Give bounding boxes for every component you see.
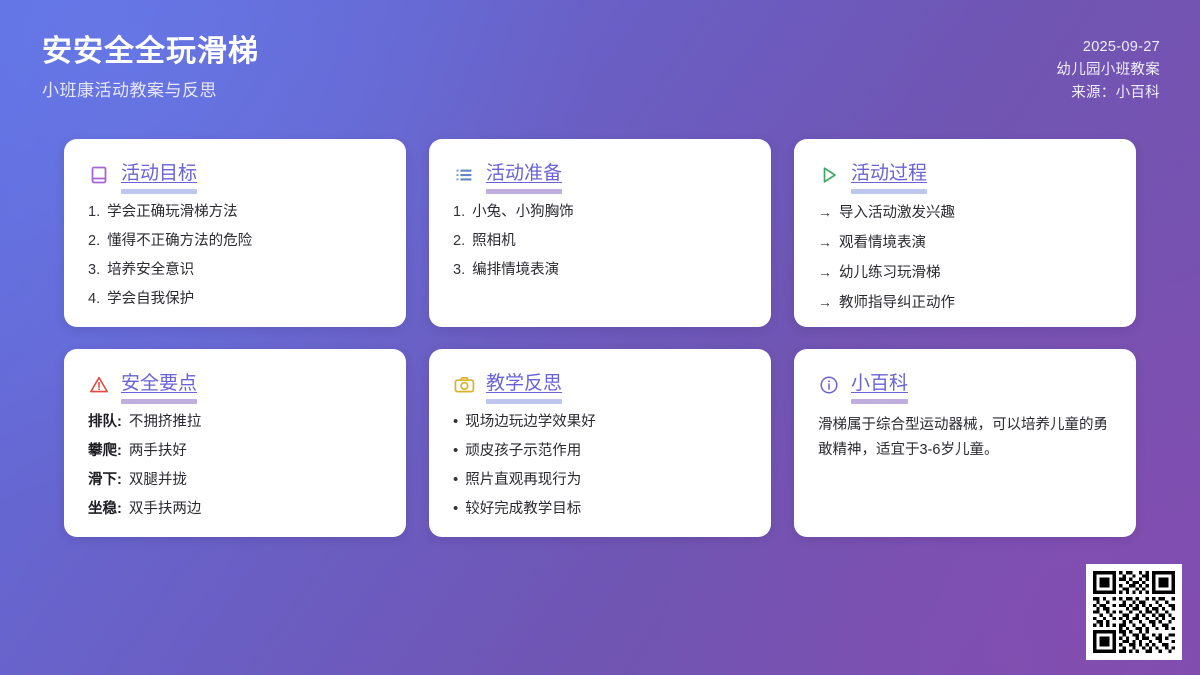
list-marker: 1. (453, 203, 465, 221)
card-safety-points[interactable]: 安全要点 排队: 不拥挤推拉 攀爬: 两手扶好 滑下: 双腿并拢 坐稳: 双手扶… (64, 349, 406, 537)
list-marker: 3. (88, 261, 100, 279)
list-item: 滑下: 双腿并拢 (88, 471, 382, 489)
qr-code-container[interactable] (1086, 564, 1182, 660)
qr-code[interactable] (1093, 571, 1175, 653)
card-activity-process[interactable]: 活动过程 → 导入活动激发兴趣 → 观看情境表演 → 幼儿练习玩滑梯 → 教师指… (794, 139, 1136, 327)
card-header: 活动过程 (818, 161, 1112, 189)
list-item: 3. 培养安全意识 (88, 261, 382, 279)
card-header: 教学反思 (453, 371, 747, 399)
list-marker: 2. (88, 232, 100, 250)
item-label: 坐稳: (88, 500, 122, 518)
card-activity-goals[interactable]: 活动目标 1. 学会正确玩滑梯方法 2. 懂得不正确方法的危险 3. 培养安全意… (64, 139, 406, 327)
card-grid: 活动目标 1. 学会正确玩滑梯方法 2. 懂得不正确方法的危险 3. 培养安全意… (64, 139, 1136, 537)
card-body: 1. 学会正确玩滑梯方法 2. 懂得不正确方法的危险 3. 培养安全意识 4. … (88, 203, 382, 308)
list-item: 3. 编排情境表演 (453, 261, 747, 279)
list-item: 攀爬: 两手扶好 (88, 442, 382, 460)
book-icon (88, 164, 110, 186)
arrow-marker: → (818, 203, 832, 221)
bullet-marker: • (453, 413, 458, 431)
card-teaching-reflection[interactable]: 教学反思 • 现场边玩边学效果好 • 顽皮孩子示范作用 • 照片直观再现行为 •… (429, 349, 771, 537)
list-item: 2. 懂得不正确方法的危险 (88, 232, 382, 250)
list-marker: 3. (453, 261, 465, 279)
item-value: 双手扶两边 (129, 500, 202, 518)
page-subtitle: 小班康活动教案与反思 (42, 79, 259, 103)
list-item: 1. 小兔、小狗胸饰 (453, 203, 747, 221)
slide-root: 安安全全玩滑梯 小班康活动教案与反思 2025-09-27 幼儿园小班教案 来源… (0, 0, 1200, 675)
list-text: 培养安全意识 (107, 261, 194, 279)
item-value: 两手扶好 (129, 442, 187, 460)
item-label: 排队: (88, 413, 122, 431)
list-text: 顽皮孩子示范作用 (465, 442, 581, 460)
list-marker: 2. (453, 232, 465, 250)
list-text: 幼儿练习玩滑梯 (839, 264, 941, 282)
list-item: 1. 学会正确玩滑梯方法 (88, 203, 382, 221)
item-value: 不拥挤推拉 (129, 413, 202, 431)
play-triangle-icon (818, 164, 840, 186)
info-circle-icon (818, 374, 840, 396)
list-item: 排队: 不拥挤推拉 (88, 413, 382, 431)
list-item: → 导入活动激发兴趣 (818, 203, 1112, 222)
list-item: • 现场边玩边学效果好 (453, 413, 747, 431)
card-title: 安全要点 (121, 371, 197, 399)
card-body: → 导入活动激发兴趣 → 观看情境表演 → 幼儿练习玩滑梯 → 教师指导纠正动作 (818, 203, 1112, 312)
list-text: 现场边玩边学效果好 (465, 413, 596, 431)
list-text: 学会正确玩滑梯方法 (107, 203, 238, 221)
list-text: 观看情境表演 (839, 234, 926, 252)
meta-source: 来源：小百科 (1056, 82, 1160, 105)
item-label: 攀爬: (88, 442, 122, 460)
list-text: 学会自我保护 (107, 290, 194, 308)
list-item: 2. 照相机 (453, 232, 747, 250)
list-text: 较好完成教学目标 (465, 500, 581, 518)
bullet-marker: • (453, 500, 458, 518)
camera-icon (453, 374, 475, 396)
card-body: 滑梯属于综合型运动器械，可以培养儿童的勇敢精神，适宜于3-6岁儿童。 (818, 413, 1112, 463)
card-header: 小百科 (818, 371, 1112, 399)
card-header: 安全要点 (88, 371, 382, 399)
list-text: 小兔、小狗胸饰 (472, 203, 574, 221)
page-title: 安安全全玩滑梯 (42, 32, 259, 72)
list-icon (453, 164, 475, 186)
list-item: → 教师指导纠正动作 (818, 293, 1112, 312)
card-header: 活动准备 (453, 161, 747, 189)
card-title: 活动准备 (486, 161, 562, 189)
list-item: → 观看情境表演 (818, 233, 1112, 252)
card-title: 活动目标 (121, 161, 197, 189)
list-text: 教师指导纠正动作 (839, 294, 955, 312)
list-text: 照相机 (472, 232, 516, 250)
list-item: • 照片直观再现行为 (453, 471, 747, 489)
list-item: 4. 学会自我保护 (88, 290, 382, 308)
list-text: 导入活动激发兴趣 (839, 204, 955, 222)
card-body: 1. 小兔、小狗胸饰 2. 照相机 3. 编排情境表演 (453, 203, 747, 279)
arrow-marker: → (818, 263, 832, 281)
card-body: 排队: 不拥挤推拉 攀爬: 两手扶好 滑下: 双腿并拢 坐稳: 双手扶两边 (88, 413, 382, 518)
meta-date: 2025-09-27 (1056, 36, 1160, 59)
list-marker: 4. (88, 290, 100, 308)
card-body: • 现场边玩边学效果好 • 顽皮孩子示范作用 • 照片直观再现行为 • 较好完成… (453, 413, 747, 518)
list-item: → 幼儿练习玩滑梯 (818, 263, 1112, 282)
card-header: 活动目标 (88, 161, 382, 189)
warning-triangle-icon (88, 374, 110, 396)
card-activity-preparation[interactable]: 活动准备 1. 小兔、小狗胸饰 2. 照相机 3. 编排情境表演 (429, 139, 771, 327)
card-encyclopedia[interactable]: 小百科 滑梯属于综合型运动器械，可以培养儿童的勇敢精神，适宜于3-6岁儿童。 (794, 349, 1136, 537)
arrow-marker: → (818, 293, 832, 311)
encyclopedia-paragraph: 滑梯属于综合型运动器械，可以培养儿童的勇敢精神，适宜于3-6岁儿童。 (818, 413, 1112, 463)
card-title: 教学反思 (486, 371, 562, 399)
header: 安安全全玩滑梯 小班康活动教案与反思 2025-09-27 幼儿园小班教案 来源… (0, 0, 1200, 130)
header-left: 安安全全玩滑梯 小班康活动教案与反思 (40, 32, 259, 103)
bullet-marker: • (453, 471, 458, 489)
list-item: 坐稳: 双手扶两边 (88, 500, 382, 518)
list-text: 懂得不正确方法的危险 (107, 232, 252, 250)
item-label: 滑下: (88, 471, 122, 489)
bullet-marker: • (453, 442, 458, 460)
list-text: 编排情境表演 (472, 261, 559, 279)
card-title: 活动过程 (851, 161, 927, 189)
list-marker: 1. (88, 203, 100, 221)
meta-category: 幼儿园小班教案 (1056, 59, 1160, 82)
card-title: 小百科 (851, 371, 908, 399)
arrow-marker: → (818, 233, 832, 251)
header-meta: 2025-09-27 幼儿园小班教案 来源：小百科 (1056, 32, 1160, 105)
list-text: 照片直观再现行为 (465, 471, 581, 489)
list-item: • 顽皮孩子示范作用 (453, 442, 747, 460)
list-item: • 较好完成教学目标 (453, 500, 747, 518)
item-value: 双腿并拢 (129, 471, 187, 489)
